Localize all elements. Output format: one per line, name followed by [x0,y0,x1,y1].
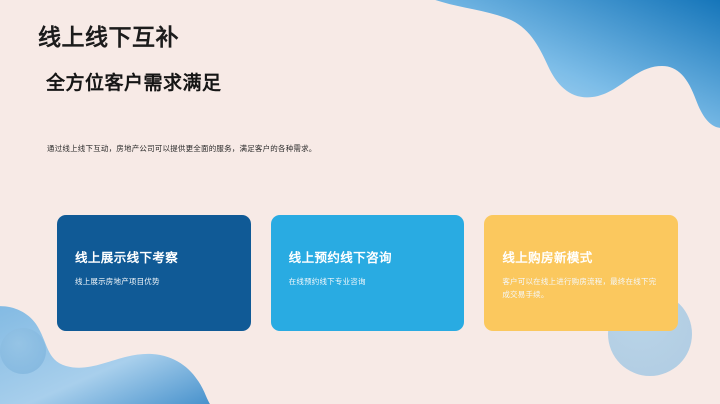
card-title: 线上展示线下考察 [75,251,233,267]
card-online-purchase-new-model[interactable]: 线上购房新模式 客户可以在线上进行购房流程，最终在线下完成交易手续。 [484,215,678,331]
card-title: 线上预约线下咨询 [289,251,447,267]
card-online-display-offline-visit[interactable]: 线上展示线下考察 线上展示房地产项目优势 [57,215,251,331]
slide-title: 线上线下互补 [38,24,179,52]
card-row: 线上展示线下考察 线上展示房地产项目优势 线上预约线下咨询 在线预约线下专业咨询… [57,215,678,331]
body-paragraph: 通过线上线下互动，房地产公司可以提供更全面的服务，满足客户的各种需求。 [47,142,347,156]
card-description: 客户可以在线上进行购房流程，最终在线下完成交易手续。 [502,275,660,301]
card-description: 线上展示房地产项目优势 [75,275,233,288]
card-title: 线上购房新模式 [502,251,660,267]
card-online-booking-offline-consult[interactable]: 线上预约线下咨询 在线预约线下专业咨询 [271,215,465,331]
blue-wave-decoration [422,0,720,128]
card-description: 在线预约线下专业咨询 [289,275,447,288]
translucent-circle-small [0,328,46,374]
slide-canvas: 线上线下互补 全方位客户需求满足 通过线上线下互动，房地产公司可以提供更全面的服… [0,0,720,404]
slide-subtitle: 全方位客户需求满足 [46,73,222,96]
